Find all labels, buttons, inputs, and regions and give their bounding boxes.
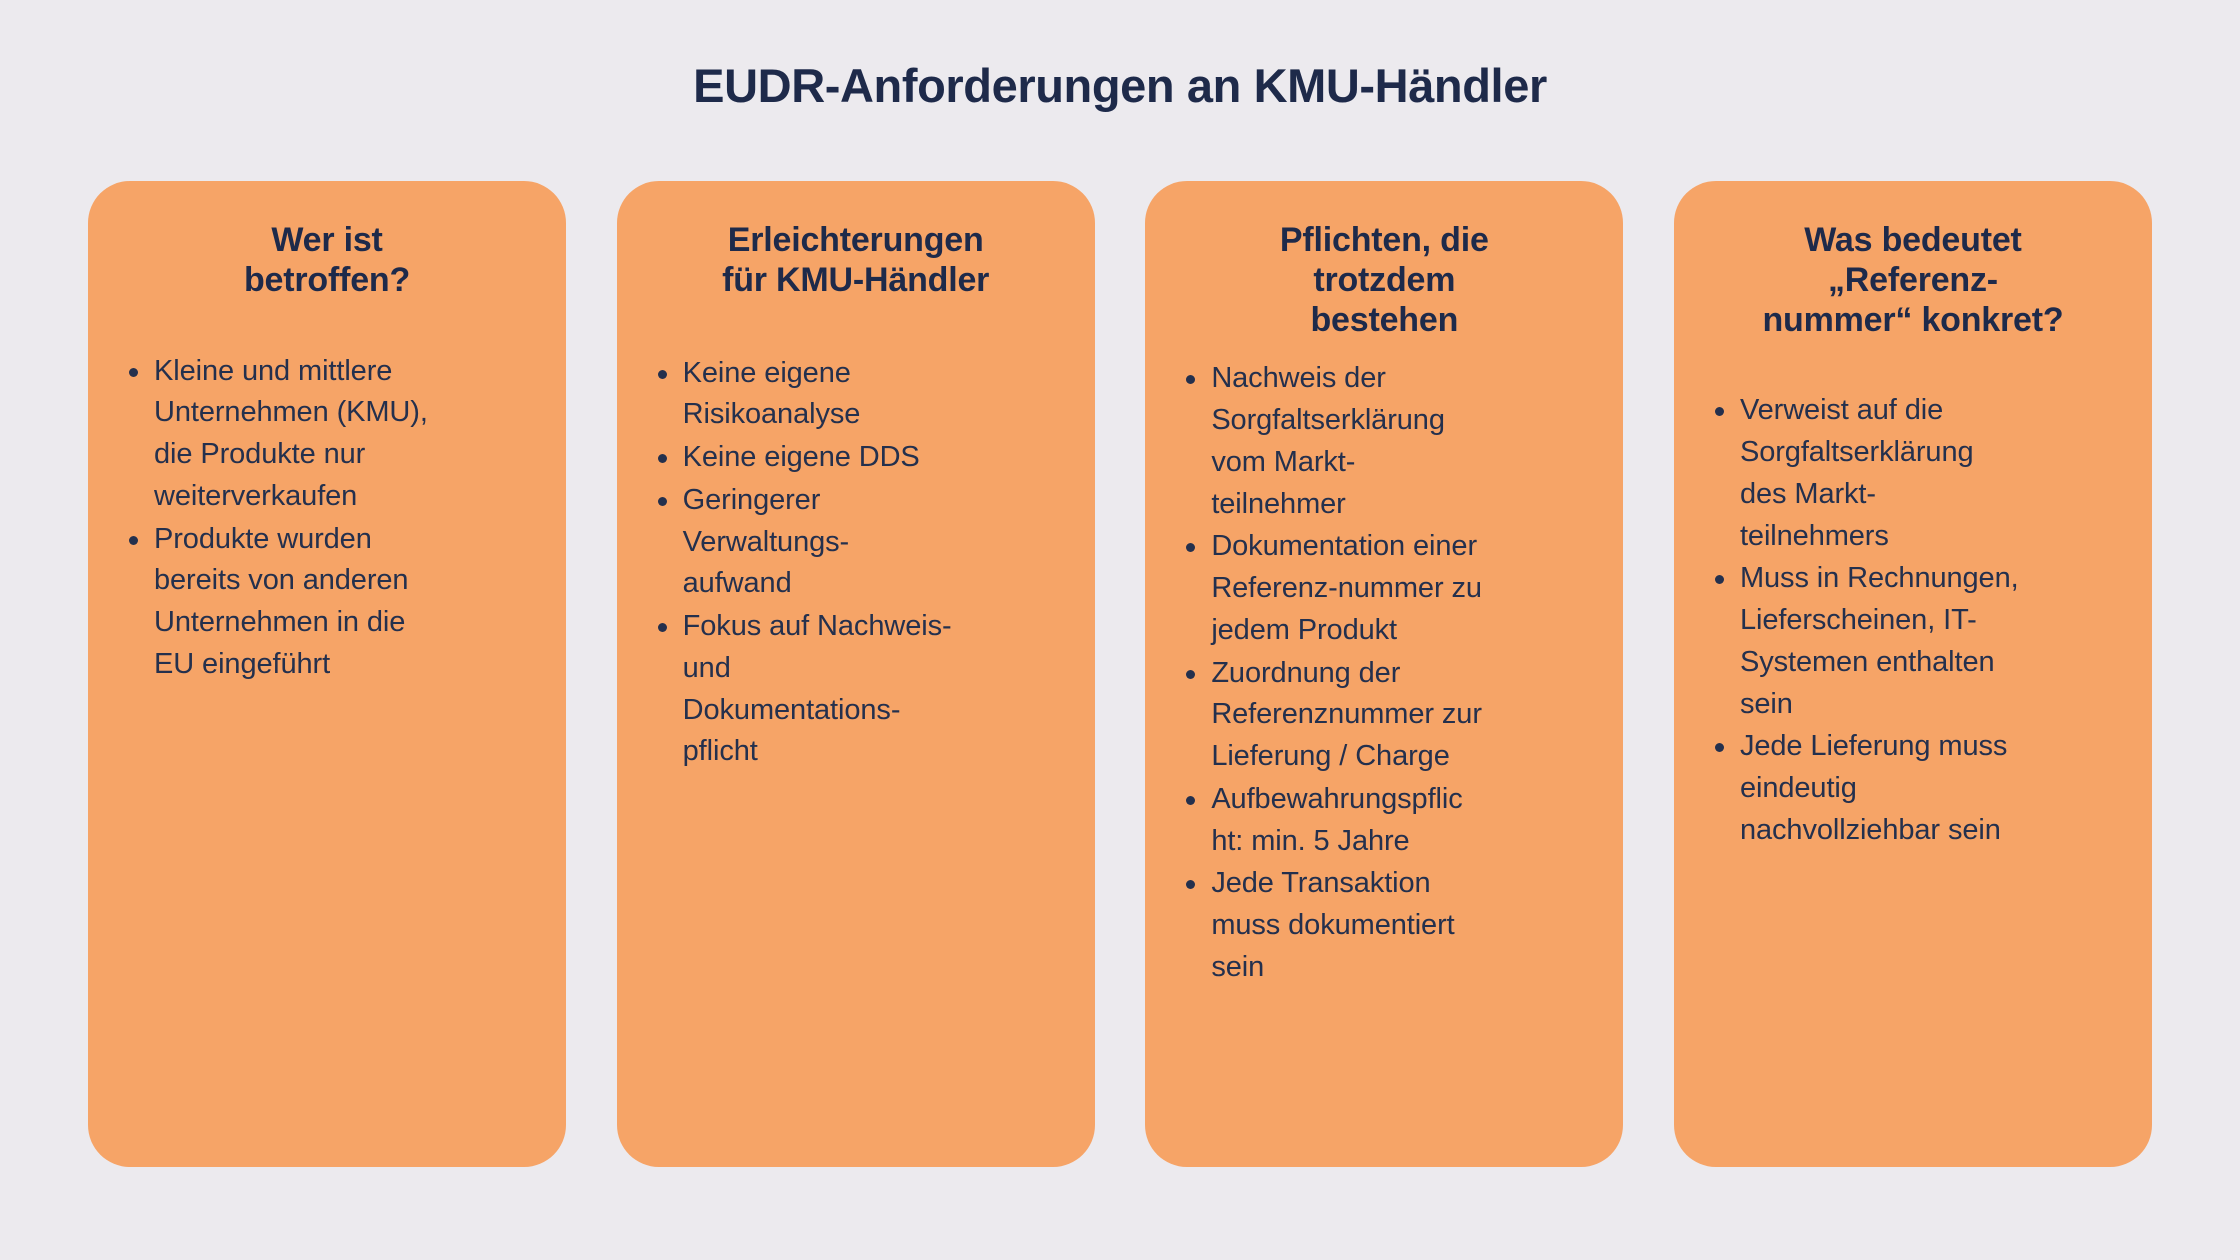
list-item: Zuordnung der Referenznummer zur Lieferu… [1173, 653, 1595, 778]
page-title: EUDR-Anforderungen an KMU-Händler [0, 58, 2240, 113]
card-title: Was bedeutet „Referenz- nummer“ konkret? [1702, 221, 2124, 340]
list-item: Produkte wurden bereits von anderen Unte… [116, 519, 538, 686]
card-erleichterungen: Erleichterungen für KMU-Händler Keine ei… [617, 181, 1095, 1167]
card-bullet-list: Keine eigene Risikoanalyse Keine eigene … [645, 353, 1067, 775]
card-referenznummer: Was bedeutet „Referenz- nummer“ konkret?… [1674, 181, 2152, 1167]
list-item: Geringerer Verwaltungs- aufwand [645, 480, 1067, 605]
card-bullet-list: Kleine und mittlere Unternehmen (KMU), d… [116, 351, 538, 687]
list-item: Jede Lieferung muss eindeutig nachvollzi… [1702, 726, 2124, 851]
list-item: Aufbewahrungspflic ht: min. 5 Jahre [1173, 779, 1595, 863]
cards-row: Wer ist betroffen? Kleine und mittlere U… [88, 181, 2152, 1167]
list-item: Verweist auf die Sorgfaltserklärung des … [1702, 390, 2124, 557]
list-item: Muss in Rechnungen, Lieferscheinen, IT- … [1702, 558, 2124, 725]
card-bullet-list: Nachweis der Sorgfaltserklärung vom Mark… [1173, 358, 1595, 989]
list-item: Jede Transaktion muss dokumentiert sein [1173, 863, 1595, 988]
card-title: Erleichterungen für KMU-Händler [645, 221, 1067, 301]
card-wer-ist-betroffen: Wer ist betroffen? Kleine und mittlere U… [88, 181, 566, 1167]
list-item: Dokumentation einer Referenz-nummer zu j… [1173, 526, 1595, 651]
infographic-root: EUDR-Anforderungen an KMU-Händler Wer is… [0, 0, 2240, 1260]
list-item: Keine eigene Risikoanalyse [645, 353, 1067, 437]
list-item: Kleine und mittlere Unternehmen (KMU), d… [116, 351, 538, 518]
card-bullet-list: Verweist auf die Sorgfaltserklärung des … [1702, 390, 2124, 852]
card-title: Wer ist betroffen? [116, 221, 538, 301]
list-item: Keine eigene DDS [645, 437, 1067, 479]
list-item: Fokus auf Nachweis- und Dokumentations- … [645, 606, 1067, 773]
card-pflichten: Pflichten, die trotzdem bestehen Nachwei… [1145, 181, 1623, 1167]
list-item: Nachweis der Sorgfaltserklärung vom Mark… [1173, 358, 1595, 525]
card-title: Pflichten, die trotzdem bestehen [1173, 221, 1595, 340]
